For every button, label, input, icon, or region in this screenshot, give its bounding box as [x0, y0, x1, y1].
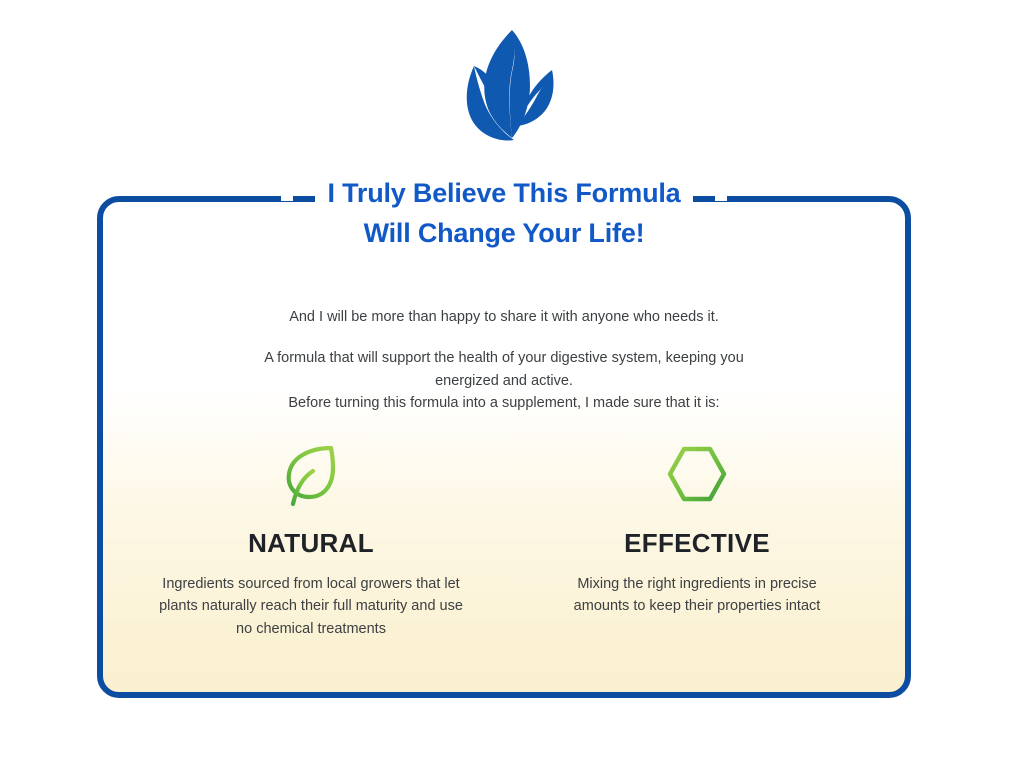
intro-paragraph-1: And I will be more than happy to share i… [103, 306, 905, 328]
intro-paragraph-2-line-1: A formula that will support the health o… [103, 347, 905, 369]
feature-effective: EFFECTIVE Mixing the right ingredients i… [532, 436, 862, 618]
card-title-line-1: I Truly Believe This Formula [315, 176, 692, 211]
card-title: I Truly Believe This Formula Will Change… [97, 176, 911, 249]
promo-card: And I will be more than happy to share i… [97, 196, 911, 698]
hexagon-icon [532, 436, 862, 514]
brand-logo [0, 26, 1024, 144]
feature-heading-natural: NATURAL [146, 528, 476, 559]
intro-paragraph-2-line-2: energized and active. [103, 370, 905, 392]
feature-description-effective: Mixing the right ingredients in precise … [532, 573, 862, 618]
intro-paragraph-3: Before turning this formula into a suppl… [103, 392, 905, 414]
intro-text-block: And I will be more than happy to share i… [103, 306, 905, 415]
leaf-trio-logo-icon [460, 26, 564, 144]
title-dash-right-wrap [715, 187, 727, 201]
feature-natural: NATURAL Ingredients sourced from local g… [146, 436, 476, 640]
feature-description-natural: Ingredients sourced from local growers t… [146, 573, 476, 640]
feature-heading-effective: EFFECTIVE [532, 528, 862, 559]
title-dash-left-wrap [281, 187, 293, 201]
feature-list: NATURAL Ingredients sourced from local g… [103, 436, 905, 640]
card-title-line-2: Will Change Your Life! [97, 218, 911, 249]
leaf-icon [146, 436, 476, 514]
